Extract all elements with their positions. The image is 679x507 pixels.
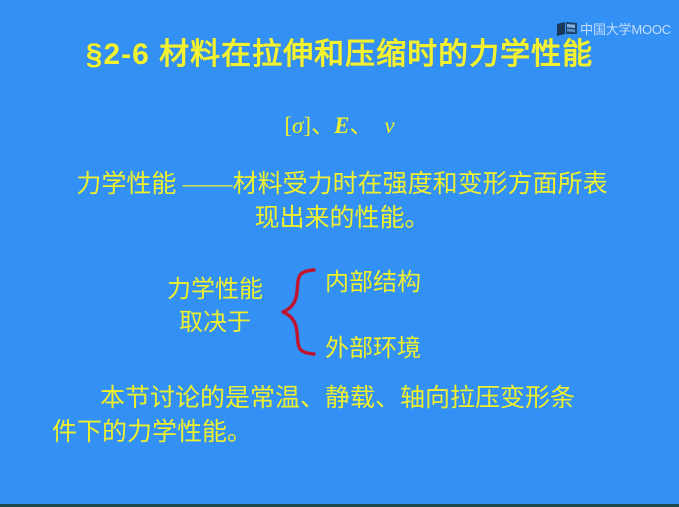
curly-brace-icon (278, 266, 322, 358)
depends-item-external-environment: 外部环境 (325, 334, 421, 364)
closing-line-2: 件下的力学性能。 (52, 416, 632, 450)
symbol-separator-1: 、 (311, 113, 334, 138)
depends-on-diagram: 力学性能 取决于 内部结构 外部环境 (150, 268, 550, 368)
brand-watermark: 中国大学MOOC (557, 22, 671, 37)
bracket-open: [ (284, 113, 292, 138)
sigma-symbol: σ (292, 113, 303, 138)
book-logo-icon (557, 22, 577, 37)
depends-on-label-line-1: 力学性能 (150, 274, 280, 307)
poisson-symbol: ν (384, 113, 394, 138)
closing-line-1: 本节讨论的是常温、静载、轴向拉压变形条 (52, 382, 632, 416)
bracket-close: ] (303, 113, 311, 138)
depends-on-label: 力学性能 取决于 (150, 274, 280, 340)
depends-on-label-line-2: 取决于 (150, 307, 280, 340)
presentation-slide: 中国大学MOOC §2-6 材料在拉伸和压缩时的力学性能 [σ]、E、ν 力学性… (0, 0, 679, 507)
definition-paragraph: 力学性能 ——材料受力时在强度和变形方面所表 现出来的性能。 (52, 168, 632, 236)
brand-name: 中国大学MOOC (580, 23, 671, 36)
closing-paragraph: 本节讨论的是常温、静载、轴向拉压变形条 件下的力学性能。 (52, 382, 632, 450)
symbol-row: [σ]、E、ν (0, 110, 679, 142)
modulus-symbol: E (334, 113, 349, 138)
definition-line-1: 力学性能 ——材料受力时在强度和变形方面所表 (52, 168, 632, 202)
symbol-separator-2: 、 (349, 113, 372, 138)
definition-line-2: 现出来的性能。 (52, 202, 632, 236)
depends-item-internal-structure: 内部结构 (325, 268, 421, 298)
page-title: §2-6 材料在拉伸和压缩时的力学性能 (0, 36, 679, 74)
